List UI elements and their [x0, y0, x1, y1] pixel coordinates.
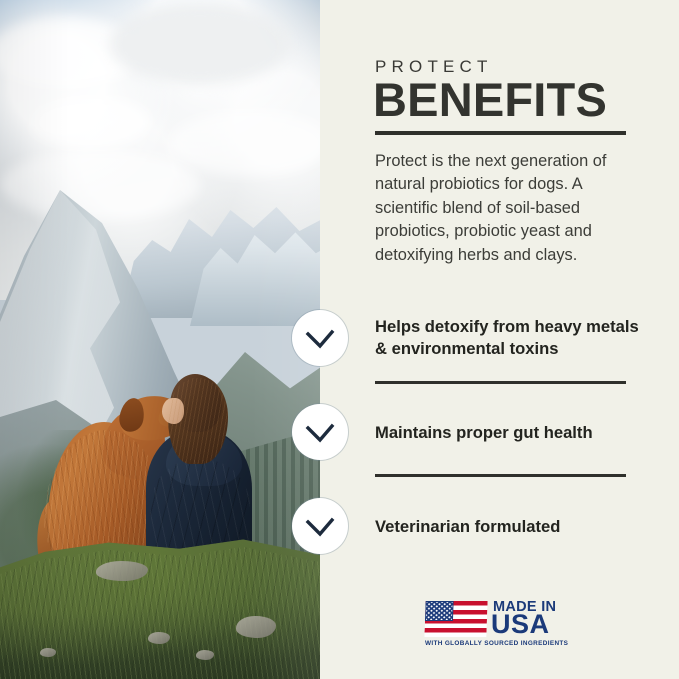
benefits-infographic: PROTECT BENEFITS Protect is the next gen…: [0, 0, 679, 679]
check-icon: [292, 498, 348, 554]
rock: [148, 632, 170, 644]
us-flag-icon: [424, 601, 487, 637]
badge-country-label: USA: [491, 611, 550, 638]
rock: [236, 616, 276, 638]
made-in-usa-badge: MADE IN USA WITH GLOBALLY SOURCED INGRED…: [425, 598, 575, 650]
flag-stars: [426, 602, 453, 620]
intro-paragraph: Protect is the next generation of natura…: [375, 150, 637, 267]
content-panel: PROTECT BENEFITS Protect is the next gen…: [320, 0, 679, 679]
benefit-divider: [375, 381, 626, 384]
cloud: [30, 96, 150, 148]
cloud: [110, 4, 290, 84]
benefit-text: Veterinarian formulated: [375, 516, 643, 538]
rock: [96, 561, 148, 581]
benefit-divider: [375, 474, 626, 477]
hero-photo: [0, 0, 320, 679]
flag-canton: [425, 601, 454, 621]
title-rule: [375, 131, 626, 135]
rock: [196, 650, 214, 660]
benefit-text: Maintains proper gut health: [375, 422, 643, 444]
person-hair-texture: [168, 378, 228, 464]
cloud: [0, 150, 200, 220]
benefit-text: Helps detoxify from heavy metals & envir…: [375, 316, 643, 359]
cloud: [170, 110, 320, 176]
page-title: BENEFITS: [373, 76, 607, 123]
rock: [40, 648, 56, 657]
check-icon: [292, 310, 348, 366]
badge-subtitle: WITH GLOBALLY SOURCED INGREDIENTS: [425, 640, 577, 647]
check-icon: [292, 404, 348, 460]
